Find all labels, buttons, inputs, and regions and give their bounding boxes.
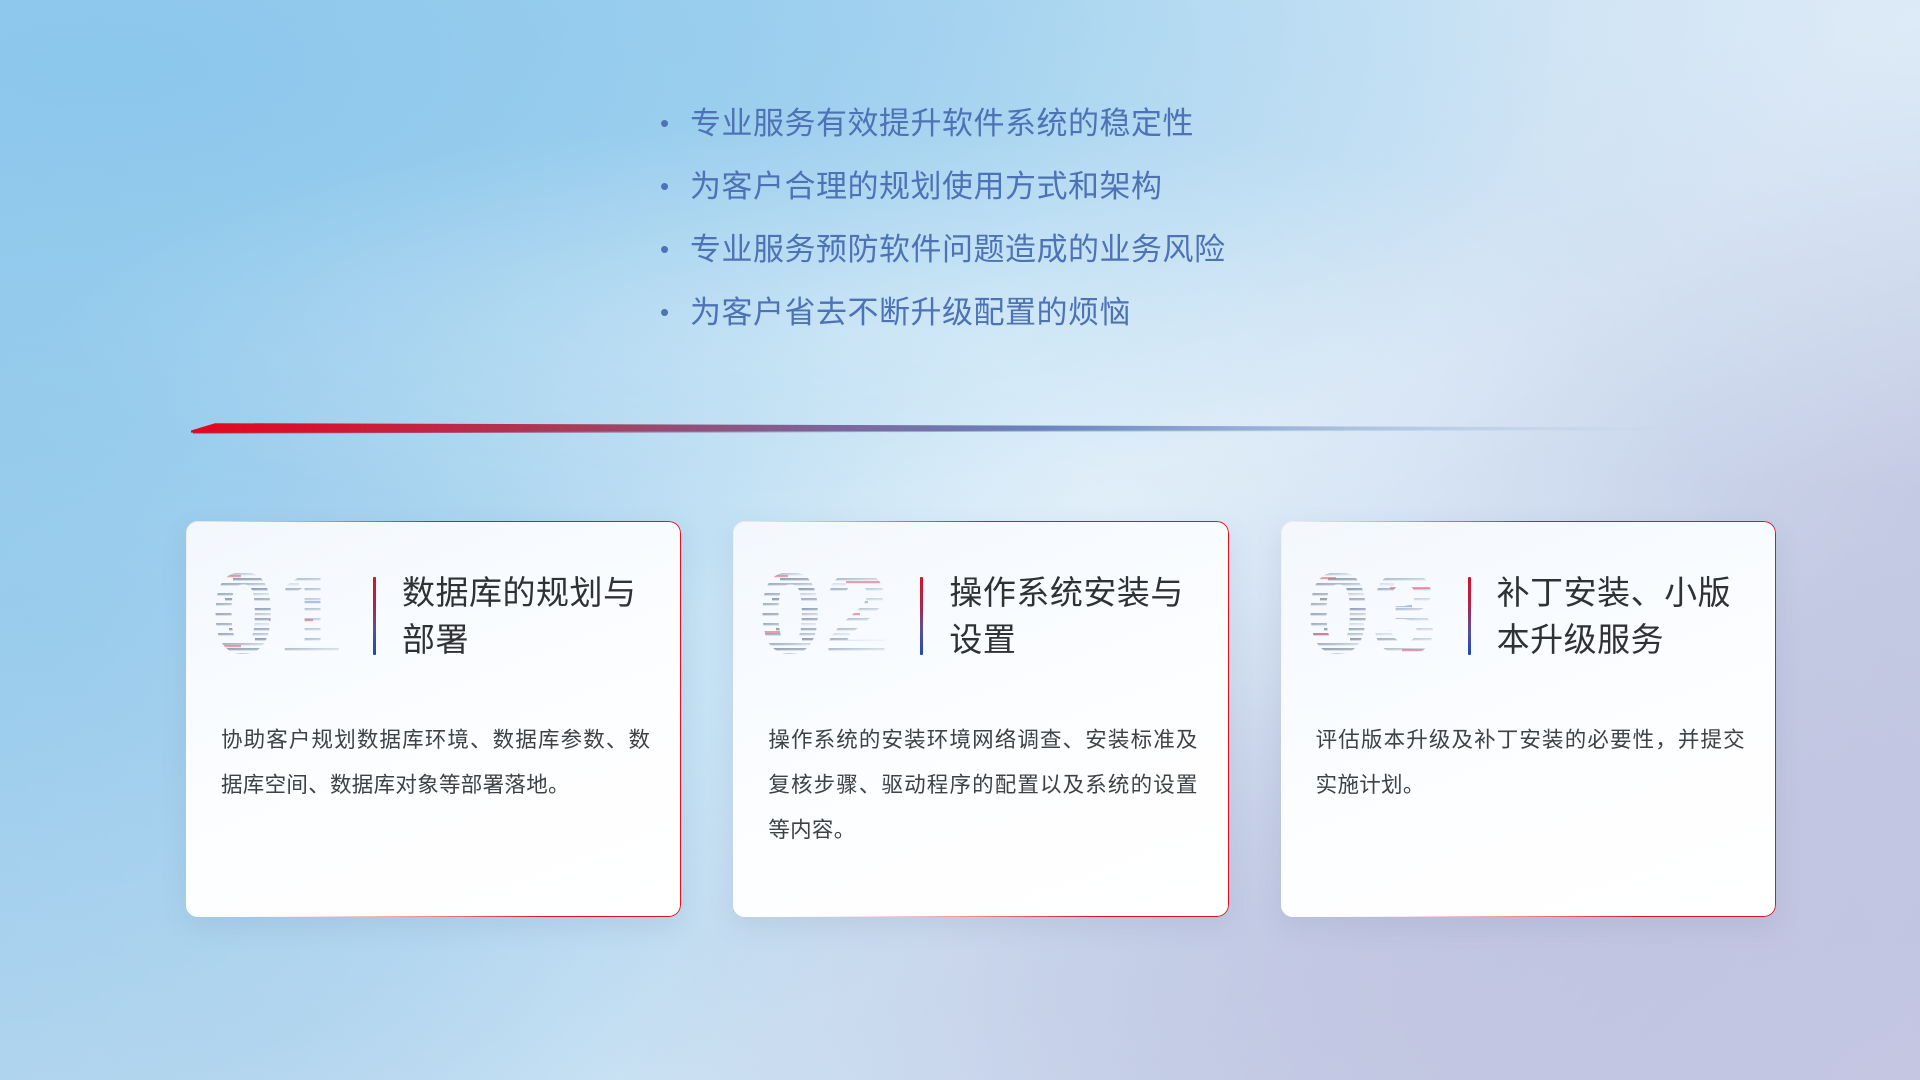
bullet-item: • 专业服务预防软件问题造成的业务风险 <box>660 218 1480 281</box>
service-card[interactable]: 03 <box>1281 521 1776 917</box>
scanline-number-icon: 03 <box>1306 557 1452 675</box>
bullet-dot-icon: • <box>660 218 690 281</box>
card-description: 操作系统的安装环境网络调查、安装标准及复核步骤、驱动程序的配置以及系统的设置等内… <box>768 718 1197 853</box>
bullet-item-label: 为客户省去不断升级配置的烦恼 <box>690 281 1131 344</box>
bullet-item: • 专业服务有效提升软件系统的稳定性 <box>660 92 1480 155</box>
slide-canvas: • 专业服务有效提升软件系统的稳定性 • 为客户合理的规划使用方式和架构 • 专… <box>0 0 1920 1080</box>
bullet-item: • 为客户省去不断升级配置的烦恼 <box>660 281 1480 344</box>
bullet-item-label: 为客户合理的规划使用方式和架构 <box>690 155 1163 218</box>
bullet-item-label: 专业服务有效提升软件系统的稳定性 <box>690 92 1194 155</box>
card-number-watermark: 03 <box>1306 557 1452 675</box>
card-title-accent-rule <box>1468 577 1471 655</box>
service-card[interactable]: 02 <box>733 521 1228 917</box>
card-number-watermark: 02 <box>758 557 904 675</box>
card-title-accent-rule <box>920 577 923 655</box>
card-title-accent-rule <box>373 577 376 655</box>
service-card[interactable]: 01 <box>186 521 681 917</box>
card-description: 协助客户规划数据库环境、数据库参数、数据库空间、数据库对象等部署落地。 <box>221 718 650 808</box>
section-divider <box>185 418 1745 438</box>
bullet-dot-icon: • <box>660 155 690 218</box>
scanline-number-icon: 02 <box>758 557 904 675</box>
card-surface: 02 <box>734 522 1227 916</box>
card-title: 操作系统安装与设置 <box>949 569 1227 663</box>
card-header: 01 <box>187 550 680 682</box>
service-cards-row: 01 <box>186 521 1776 921</box>
card-surface: 01 <box>187 522 680 916</box>
card-number-watermark: 01 <box>211 557 357 675</box>
bullet-dot-icon: • <box>660 281 690 344</box>
scanline-number-icon: 01 <box>211 557 357 675</box>
bullet-dot-icon: • <box>660 92 690 155</box>
card-surface: 03 <box>1282 522 1775 916</box>
benefits-bullet-list: • 专业服务有效提升软件系统的稳定性 • 为客户合理的规划使用方式和架构 • 专… <box>660 92 1480 344</box>
divider-rule-icon <box>185 418 1745 438</box>
card-description: 评估版本升级及补丁安装的必要性，并提交实施计划。 <box>1316 718 1745 808</box>
card-header: 02 <box>734 550 1227 682</box>
card-title: 补丁安装、小版本升级服务 <box>1497 569 1775 663</box>
card-title: 数据库的规划与部署 <box>402 569 680 663</box>
card-header: 03 <box>1282 550 1775 682</box>
bullet-item-label: 专业服务预防软件问题造成的业务风险 <box>690 218 1226 281</box>
bullet-item: • 为客户合理的规划使用方式和架构 <box>660 155 1480 218</box>
